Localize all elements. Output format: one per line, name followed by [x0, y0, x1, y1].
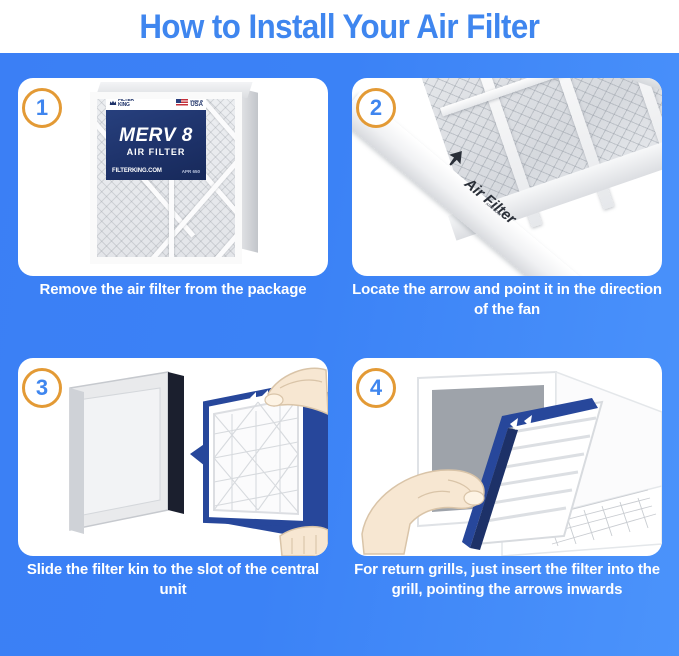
filter-front-face: FILTER KING MADE IN	[90, 92, 242, 264]
filter-king-logo: FILTER KING	[109, 98, 134, 108]
step-number-3: 3	[36, 377, 48, 399]
step-number-4: 4	[370, 377, 382, 399]
step-4-illustration	[352, 358, 662, 556]
step-3-illustration	[18, 358, 328, 556]
crown-icon	[109, 99, 117, 107]
step-badge-4: 4	[356, 368, 396, 408]
step-card-1: FILTER KING MADE IN	[18, 78, 328, 276]
central-unit-slot	[70, 372, 184, 534]
filter-product-label: FILTER KING MADE IN	[106, 108, 206, 180]
country-label: USA	[190, 103, 203, 107]
brand-website: FILTERKING.COM	[112, 168, 162, 174]
step-caption-2: Locate the arrow and point it in the dir…	[348, 280, 666, 320]
header: How to Install Your Air Filter	[0, 0, 679, 53]
filter-corner-closeup: Air Filter AIRFLOW	[352, 78, 662, 276]
infographic-root: How to Install Your Air Filter	[0, 0, 679, 656]
blue-background: FILTER KING MADE IN	[0, 53, 679, 656]
step-caption-3: Slide the filter kin to the slot of the …	[14, 560, 332, 600]
merv-rating: MERV 8	[106, 126, 206, 145]
usa-text: MADE IN USA	[190, 99, 203, 107]
filter-king-wordmark: FILTER KING	[118, 98, 134, 108]
step-caption-1: Remove the air filter from the package	[14, 280, 332, 300]
step-panel-1: FILTER KING MADE IN	[18, 78, 328, 318]
made-in-usa-badge: MADE IN USA	[176, 99, 203, 107]
steps-grid: FILTER KING MADE IN	[0, 53, 679, 656]
return-grill-diagram	[352, 358, 662, 556]
step-2-illustration: Air Filter AIRFLOW	[352, 78, 662, 276]
usa-flag-icon	[176, 99, 188, 107]
step-number-1: 1	[36, 97, 48, 119]
step-number-2: 2	[370, 97, 382, 119]
step-card-4: 4	[352, 358, 662, 556]
label-footer: FILTERKING.COM APR 650	[112, 168, 200, 174]
step-card-3: 3	[18, 358, 328, 556]
step-badge-3: 3	[22, 368, 62, 408]
apr-rating: APR 650	[182, 169, 200, 174]
step-1-illustration: FILTER KING MADE IN	[18, 78, 328, 276]
step-caption-4: For return grills, just insert the filte…	[348, 560, 666, 600]
air-filter-product-photo: FILTER KING MADE IN	[84, 84, 270, 270]
label-subtitle: AIR FILTER	[106, 147, 206, 157]
step-badge-2: 2	[356, 88, 396, 128]
step-card-2: Air Filter AIRFLOW 2	[352, 78, 662, 276]
brand-line-2: KING	[118, 103, 134, 108]
step-panel-3: 3 Slide the filter kin to the slot of th…	[18, 358, 328, 598]
hand-bottom	[280, 527, 328, 556]
slide-filter-diagram	[18, 358, 328, 556]
step-panel-2: Air Filter AIRFLOW 2 Locate the arrow an…	[352, 78, 662, 318]
page-title: How to Install Your Air Filter	[140, 10, 540, 44]
step-badge-1: 1	[22, 88, 62, 128]
filter-label-header: FILTER KING MADE IN	[106, 96, 206, 110]
step-panel-4: 4 For return grills, just insert the fil…	[352, 358, 662, 598]
